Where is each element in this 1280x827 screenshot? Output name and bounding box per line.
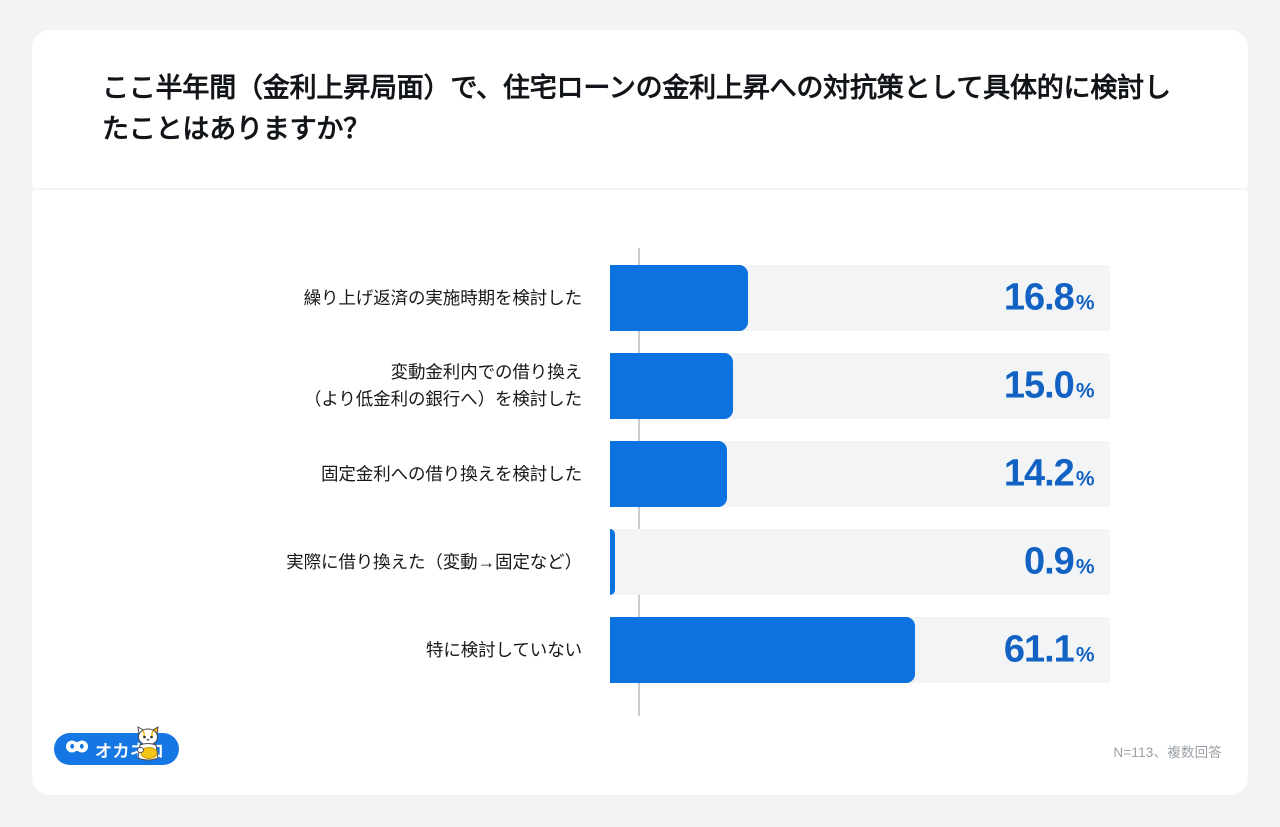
bar-value: 61.1 % <box>1004 629 1094 672</box>
bar-fill <box>610 353 733 419</box>
chart-row: 実際に借り換えた（変動→固定など） 0.9 % <box>32 518 1248 606</box>
bar-value-number: 0.9 <box>1024 541 1074 584</box>
bar-value: 16.8 % <box>1004 277 1094 320</box>
bar-value-number: 16.8 <box>1004 277 1074 320</box>
page-title: ここ半年間（金利上昇局面）で、住宅ローンの金利上昇への対抗策として具体的に検討し… <box>102 68 1188 150</box>
bar-category-label: 固定金利への借り換えを検討した <box>32 461 610 488</box>
bar-value: 14.2 % <box>1004 453 1094 496</box>
chart-row: 変動金利内での借り換え （より低金利の銀行へ）を検討した 15.0 % <box>32 342 1248 430</box>
chart-page: ここ半年間（金利上昇局面）で、住宅ローンの金利上昇への対抗策として具体的に検討し… <box>0 0 1280 827</box>
bar-category-label: 繰り上げ返済の実施時期を検討した <box>32 285 610 312</box>
bar-value-number: 15.0 <box>1004 365 1074 408</box>
chart-row: 特に検討していない 61.1 % <box>32 606 1248 694</box>
bar-track: 15.0 % <box>610 353 1110 419</box>
percent-sign: % <box>1076 644 1094 668</box>
card-footer: オカネコ <box>32 725 1248 795</box>
chart-row: 固定金利への借り換えを検討した 14.2 % <box>32 430 1248 518</box>
bar-fill <box>610 617 915 683</box>
bar-track: 61.1 % <box>610 617 1110 683</box>
bar-value-number: 14.2 <box>1004 453 1074 496</box>
bar-fill <box>610 441 727 507</box>
chart-card: 繰り上げ返済の実施時期を検討した 16.8 % 変動金利内での借り換え （より低… <box>32 190 1248 795</box>
percent-sign: % <box>1076 380 1094 404</box>
bar-track: 0.9 % <box>610 529 1110 595</box>
sample-size-note: N=113、複数回答 <box>1113 741 1222 761</box>
bar-fill <box>610 265 748 331</box>
bar-value-number: 61.1 <box>1004 629 1074 672</box>
bar-value: 0.9 % <box>1024 541 1094 584</box>
bar-fill <box>610 529 615 595</box>
bar-track: 16.8 % <box>610 265 1110 331</box>
infinity-eyes-icon <box>66 740 88 758</box>
chart-row: 繰り上げ返済の実施時期を検討した 16.8 % <box>32 254 1248 342</box>
chart-rows: 繰り上げ返済の実施時期を検討した 16.8 % 変動金利内での借り換え （より低… <box>32 254 1248 694</box>
bar-chart: 繰り上げ返済の実施時期を検討した 16.8 % 変動金利内での借り換え （より低… <box>32 190 1248 725</box>
bar-category-label: 変動金利内での借り換え （より低金利の銀行へ）を検討した <box>32 359 610 412</box>
percent-sign: % <box>1076 556 1094 580</box>
question-header-card: ここ半年間（金利上昇局面）で、住宅ローンの金利上昇への対抗策として具体的に検討し… <box>32 30 1248 188</box>
bar-track: 14.2 % <box>610 441 1110 507</box>
cat-mascot-icon <box>130 724 166 764</box>
percent-sign: % <box>1076 292 1094 316</box>
bar-category-label: 特に検討していない <box>32 637 610 664</box>
bar-category-label: 実際に借り換えた（変動→固定など） <box>32 549 610 576</box>
bar-value: 15.0 % <box>1004 365 1094 408</box>
percent-sign: % <box>1076 468 1094 492</box>
